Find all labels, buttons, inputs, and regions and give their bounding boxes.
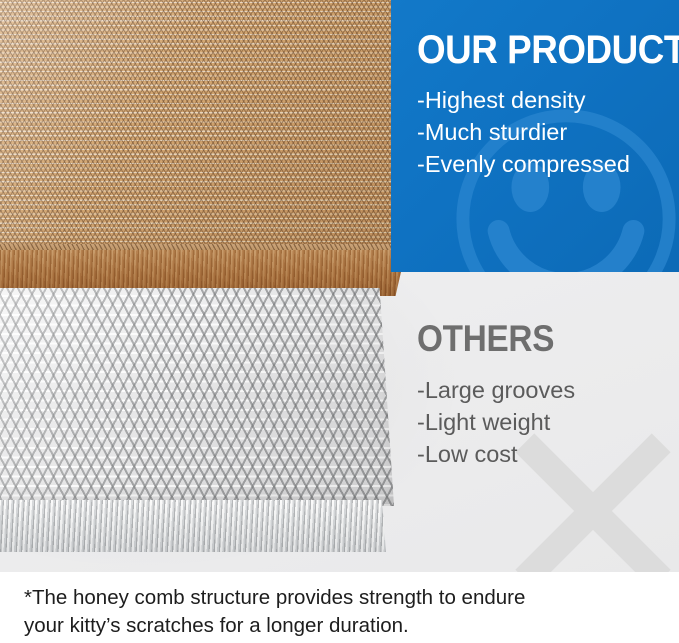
others-bullet-list: -Large grooves -Light weight -Low cost	[417, 374, 679, 471]
others-bullet-2: -Light weight	[417, 406, 679, 438]
others-bullet-1: -Large grooves	[417, 374, 679, 406]
gray-grooved-pad	[0, 288, 394, 506]
product-comparison-infographic: OUR PRODUCT -Highest density -Much sturd…	[0, 0, 679, 643]
footer-caption: *The honey comb structure provides stren…	[0, 572, 679, 643]
our-product-bullet-3: -Evenly compressed	[417, 148, 679, 180]
footer-line-1: *The honey comb structure provides stren…	[24, 586, 525, 609]
kraft-pad-sheen	[0, 0, 426, 256]
others-heading: OTHERS	[417, 320, 653, 357]
footer-line-2: your kitty’s scratches for a longer dura…	[24, 612, 655, 640]
our-product-bullet-list: -Highest density -Much sturdier -Evenly …	[417, 84, 679, 181]
others-bullet-3: -Low cost	[417, 438, 679, 470]
kraft-honeycomb-pad	[0, 0, 426, 256]
our-product-panel: OUR PRODUCT -Highest density -Much sturd…	[391, 0, 679, 272]
gray-pad-sheen	[0, 288, 394, 506]
our-product-content: OUR PRODUCT -Highest density -Much sturd…	[391, 0, 679, 181]
our-product-heading: OUR PRODUCT	[417, 30, 658, 70]
our-product-bullet-2: -Much sturdier	[417, 116, 679, 148]
our-product-bullet-1: -Highest density	[417, 84, 679, 116]
others-panel: OTHERS -Large grooves -Light weight -Low…	[391, 272, 679, 572]
gray-pad-edge-ribs	[0, 500, 386, 552]
footer-text: *The honey comb structure provides stren…	[24, 584, 655, 640]
others-content: OTHERS -Large grooves -Light weight -Low…	[391, 272, 679, 471]
